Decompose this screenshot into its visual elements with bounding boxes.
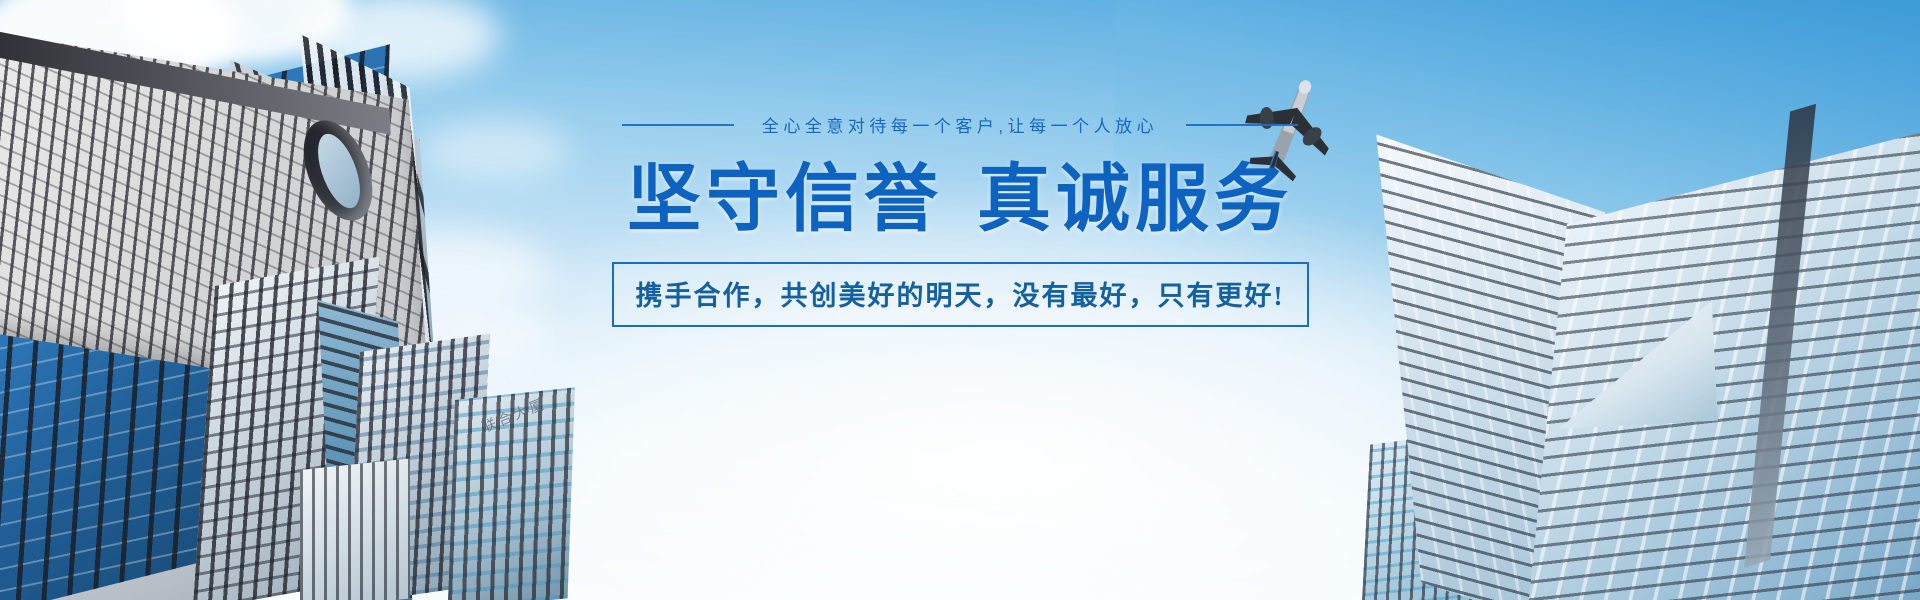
headline-part-right: 真诚服务 (977, 159, 1293, 241)
hero-banner: 联合大厦 (0, 0, 1920, 600)
subtitle-box: 携手合作，共创美好的明天，没有最好，只有更好! (612, 262, 1309, 327)
tagline-text: 全心全意对待每一个客户,让每一个人放心 (762, 112, 1158, 137)
page-title: 坚守信誉真诚服务 (0, 160, 1920, 241)
tagline-row: 全心全意对待每一个客户,让每一个人放心 (0, 112, 1920, 137)
mid-tower-4 (300, 458, 410, 600)
decorative-line-right-icon (1186, 124, 1298, 126)
headline-part-left: 坚守信誉 (627, 159, 943, 241)
subtitle-row: 携手合作，共创美好的明天，没有最好，只有更好! (0, 262, 1920, 327)
decorative-line-left-icon (622, 124, 734, 126)
